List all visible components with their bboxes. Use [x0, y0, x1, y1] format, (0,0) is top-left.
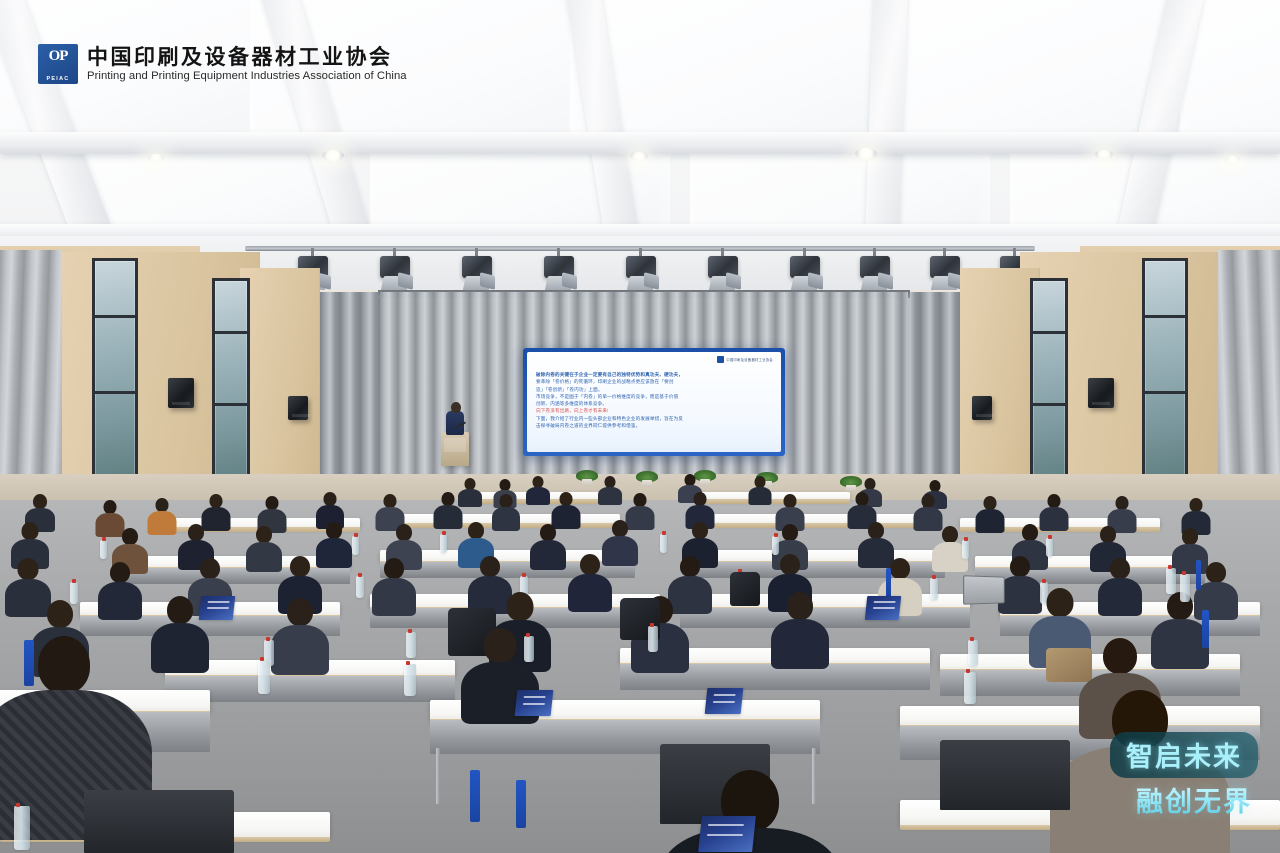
slide-surface: 中国印刷及设备器材工业协会 破除内卷的关键在于企业一定要有自己的独特优势和真功夫…: [527, 352, 781, 452]
table-row: [680, 594, 970, 608]
water-bottle: [1046, 538, 1053, 557]
logo-text-block: 中国印刷及设备器材工业协会 Printing and Printing Equi…: [87, 45, 407, 83]
water-bottle: [660, 534, 667, 553]
conference-booklet: [698, 816, 756, 852]
ceiling-downlight: [855, 148, 877, 159]
stage-spotlight: [624, 248, 658, 294]
laptop: [963, 575, 1005, 605]
water-bottle: [406, 632, 416, 658]
wall-speaker-right-1: [1088, 378, 1114, 408]
water-bottle: [930, 578, 938, 600]
slogan-line-2: 融创无界: [1110, 780, 1252, 819]
water-bottle: [14, 806, 30, 850]
presentation-screen: 中国印刷及设备器材工业协会 破除内卷的关键在于企业一定要有自己的独特优势和真功夫…: [523, 348, 785, 456]
photo-canvas: 中国印刷及设备器材工业协会 破除内卷的关键在于企业一定要有自己的独特优势和真功夫…: [0, 0, 1280, 853]
table-leg: [812, 748, 816, 804]
chair: [940, 740, 1070, 810]
water-bottle: [404, 664, 416, 696]
stage-spotlight: [706, 248, 740, 294]
stage-plant: [576, 470, 598, 486]
slide-line: 下面，我介绍了行业内一些头部企业和特色企业的发展举措，旨在为反: [536, 415, 773, 422]
wall-speaker-left-1: [168, 378, 194, 408]
table-modesty-panel: [680, 608, 970, 628]
slide-line: 创新、内涵等多维度的体系竞争。: [536, 400, 773, 407]
stage-spotlight: [378, 248, 412, 294]
ceiling-downlight: [1225, 156, 1240, 164]
stage-spotlight: [928, 248, 962, 294]
window-left-1: [92, 258, 138, 488]
slogan-line-1: 智启未来: [1110, 732, 1258, 778]
speaker-head: [451, 402, 461, 413]
wall-speaker-right-2: [972, 396, 992, 420]
water-bottle: [100, 540, 107, 559]
window-right-2: [1030, 278, 1068, 492]
blue-lanyard: [1202, 610, 1209, 648]
association-logo-overlay: OP PEIAC 中国印刷及设备器材工业协会 Printing and Prin…: [38, 44, 407, 84]
ceiling-downlight: [148, 154, 164, 162]
water-bottle: [968, 640, 978, 666]
slide-line: 击探寻破局内卷之道的业界同仁提供参考和借鉴。: [536, 422, 773, 429]
water-bottle: [772, 536, 779, 555]
blue-lanyard: [516, 780, 526, 828]
blue-lanyard: [886, 568, 891, 598]
ceiling-downlight: [322, 150, 344, 161]
conference-booklet: [199, 596, 236, 620]
logo-abbr: PEIAC: [38, 76, 78, 82]
ceiling: [0, 0, 1280, 250]
org-name-cn: 中国印刷及设备器材工业协会: [87, 45, 407, 69]
table-row: [700, 514, 930, 524]
peiac-logo-icon: OP PEIAC: [38, 44, 78, 84]
stage-spotlight: [460, 248, 494, 294]
podium: [441, 432, 469, 466]
water-bottle: [962, 540, 969, 559]
conference-booklet: [865, 596, 902, 620]
handbag: [1046, 648, 1092, 682]
ceiling-downlight: [1095, 150, 1113, 159]
water-bottle: [258, 660, 270, 694]
water-bottle: [524, 636, 534, 662]
event-slogan-watermark: 智启未来 融创无界: [1110, 732, 1258, 819]
table-row: [700, 492, 850, 500]
water-bottle: [964, 672, 976, 704]
chair: [84, 790, 234, 853]
stage-plant: [840, 476, 862, 492]
conference-booklet: [705, 688, 744, 714]
slide-line: 破除内卷的关键在于企业一定要有自己的独特优势和真功夫、硬功夫，: [536, 371, 773, 378]
slide-org-logo: 中国印刷及设备器材工业协会: [717, 356, 773, 363]
blue-lanyard: [1196, 560, 1201, 590]
water-bottle: [648, 626, 658, 652]
stage-spotlight: [858, 248, 892, 294]
stage-spotlight: [788, 248, 822, 294]
stage-plant: [636, 471, 658, 487]
water-bottle: [1180, 574, 1190, 602]
window-left-2: [212, 278, 250, 492]
blue-lanyard: [24, 640, 34, 686]
slide-line: 造」「卷创新」「卷内功」上面。: [536, 386, 773, 393]
water-bottle: [356, 576, 364, 598]
slide-line: 要革除「卷价格」的死循环，印刷企业的战略点更应该放在「要创: [536, 378, 773, 385]
water-bottle: [70, 582, 78, 604]
stage-spotlight: [542, 248, 576, 294]
water-bottle: [352, 536, 359, 555]
wall-speaker-left-2: [288, 396, 308, 420]
slide-line: 市场竞争，不是囿于「内卷」的单一价格维度的竞争，而是基于价值: [536, 393, 773, 400]
slide-logo-mark: [717, 356, 724, 363]
table-leg: [436, 748, 440, 804]
org-name-en: Printing and Printing Equipment Industri…: [87, 70, 407, 83]
blue-lanyard: [470, 770, 480, 822]
backpack: [730, 572, 760, 606]
stage-plant: [694, 470, 716, 486]
window-right-1: [1142, 258, 1188, 488]
ceiling-downlight: [630, 152, 648, 161]
logo-monogram: OP: [49, 48, 68, 65]
water-bottle: [440, 534, 447, 553]
slide-text-block: 破除内卷的关键在于企业一定要有自己的独特优势和真功夫、硬功夫， 要革除「卷价格」…: [536, 371, 773, 429]
slide-line-highlight: 向下卷没有出路，向上卷才有未来!: [536, 407, 773, 414]
water-bottle: [1166, 568, 1176, 594]
conference-booklet: [515, 690, 554, 716]
slide-logo-text: 中国印刷及设备器材工业协会: [726, 357, 773, 362]
